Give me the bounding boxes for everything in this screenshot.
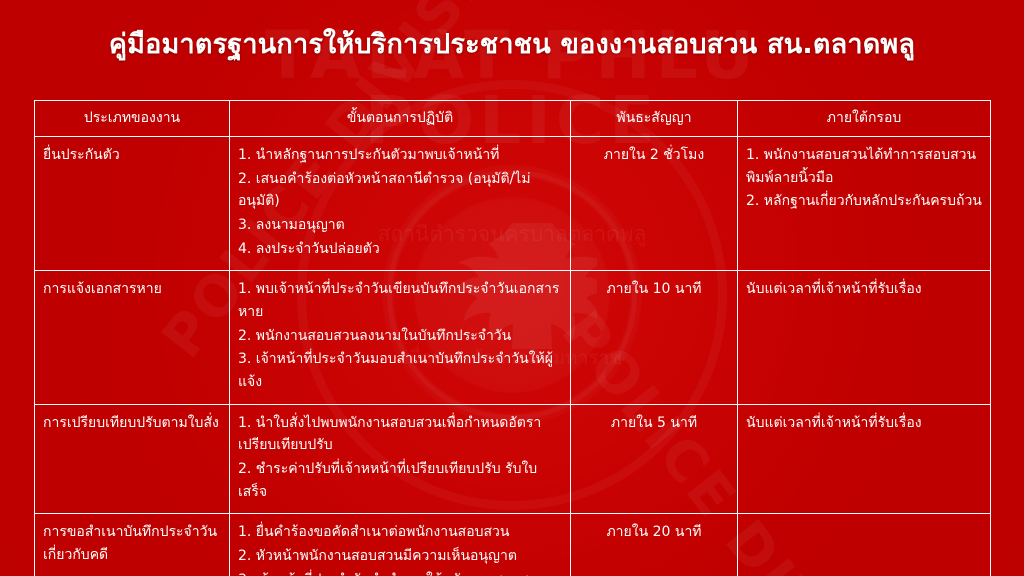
cell-service-type: การแจ้งเอกสารหาย [35,271,230,404]
procedure-step: 2. ชำระค่าปรับที่เจ้าหหน้าที่เปรียบเทียบ… [238,458,562,503]
procedure-step-list: 1. นำหลักฐานการประกันตัวมาพบเจ้าหน้าที่ … [238,144,562,260]
procedure-step: 2. หัวหน้าพนักงานสอบสวนมีความเห็นอนุญาต [238,545,562,568]
procedure-step: 1. นำหลักฐานการประกันตัวมาพบเจ้าหน้าที่ [238,144,562,167]
service-type-line: เกี่ยวกับคดี [43,544,221,567]
page-title: คู่มือมาตรฐานการให้บริการประชาชน ของงานส… [0,22,1024,65]
service-type-line: ยื่นประกันตัว [43,144,221,167]
cell-procedure-steps: 1. นำหลักฐานการประกันตัวมาพบเจ้าหน้าที่ … [230,137,571,271]
cell-procedure-steps: 1. นำใบสั่งไปพบพนักงานสอบสวนเพื่อกำหนดอั… [230,404,571,514]
scope-condition: นับแต่เวลาที่เจ้าหน้าที่รับเรื่อง [746,278,982,301]
column-header-type: ประเภทของงาน [35,101,230,137]
scope-condition-list: นับแต่เวลาที่เจ้าหน้าที่รับเรื่อง [746,278,982,301]
scope-condition-list: นับแต่เวลาที่เจ้าหน้าที่รับเรื่อง [746,412,982,435]
cell-scope-conditions: 1. พนักงานสอบสวนได้ทำการสอบสวน พิมพ์ลายน… [738,137,991,271]
procedure-step: 4. ลงประจำวันปล่อยตัว [238,238,562,261]
table-row: การแจ้งเอกสารหาย 1. พบเจ้าหน้าที่ประจำวั… [35,271,991,404]
procedure-step-list: 1. ยื่นคำร้องขอคัดสำเนาต่อพนักงานสอบสวน … [238,521,562,576]
service-type-line: การเปรียบเทียบปรับตามใบสั่ง [43,412,221,435]
cell-service-type: การขอสำเนาบันทึกประจำวัน เกี่ยวกับคดี [35,514,230,576]
cell-service-pledge: ภายใน 20 นาที [571,514,738,576]
procedure-step: 1. พบเจ้าหน้าที่ประจำวันเขียนบันทึกประจำ… [238,278,562,323]
procedure-step: 3. เจ้าหน้าที่ประจำวันนำสำเนาให้พนักงานส… [238,569,562,576]
procedure-step: 1. ยื่นคำร้องขอคัดสำเนาต่อพนักงานสอบสวน [238,521,562,544]
cell-service-pledge: ภายใน 2 ชั่วโมง [571,137,738,271]
procedure-step: 3. ลงนามอนุญาต [238,214,562,237]
service-type-line: การขอสำเนาบันทึกประจำวัน [43,521,221,544]
scope-condition: นับแต่เวลาที่เจ้าหน้าที่รับเรื่อง [746,412,982,435]
slide-content: คู่มือมาตรฐานการให้บริการประชาชน ของงานส… [0,0,1024,576]
cell-service-pledge: ภายใน 10 นาที [571,271,738,404]
table-row: การขอสำเนาบันทึกประจำวัน เกี่ยวกับคดี 1.… [35,514,991,576]
cell-procedure-steps: 1. ยื่นคำร้องขอคัดสำเนาต่อพนักงานสอบสวน … [230,514,571,576]
procedure-step-list: 1. นำใบสั่งไปพบพนักงานสอบสวนเพื่อกำหนดอั… [238,412,562,504]
cell-service-type: การเปรียบเทียบปรับตามใบสั่ง [35,404,230,514]
cell-scope-conditions [738,514,991,576]
procedure-step-list: 1. พบเจ้าหน้าที่ประจำวันเขียนบันทึกประจำ… [238,278,562,393]
cell-service-type: ยื่นประกันตัว [35,137,230,271]
table-row: ยื่นประกันตัว 1. นำหลักฐานการประกันตัวมา… [35,137,991,271]
table-row: การเปรียบเทียบปรับตามใบสั่ง 1. นำใบสั่งไ… [35,404,991,514]
procedure-step: 2. เสนอคำร้องต่อหัวหน้าสถานีตำรวจ (อนุมั… [238,168,562,213]
table-header-row: ประเภทของงาน ขั้นตอนการปฏิบัติ พันธะสัญญ… [35,101,991,137]
cell-scope-conditions: นับแต่เวลาที่เจ้าหน้าที่รับเรื่อง [738,404,991,514]
service-type-line: การแจ้งเอกสารหาย [43,278,221,301]
cell-service-pledge: ภายใน 5 นาที [571,404,738,514]
cell-procedure-steps: 1. พบเจ้าหน้าที่ประจำวันเขียนบันทึกประจำ… [230,271,571,404]
procedure-step: 1. นำใบสั่งไปพบพนักงานสอบสวนเพื่อกำหนดอั… [238,412,562,457]
table-header: ประเภทของงาน ขั้นตอนการปฏิบัติ พันธะสัญญ… [35,101,991,137]
scope-condition: 2. หลักฐานเกี่ยวกับหลักประกันครบถ้วน [746,190,982,213]
column-header-pledge: พันธะสัญญา [571,101,738,137]
cell-scope-conditions: นับแต่เวลาที่เจ้าหน้าที่รับเรื่อง [738,271,991,404]
column-header-scope: ภายใต้กรอบ [738,101,991,137]
table-body: ยื่นประกันตัว 1. นำหลักฐานการประกันตัวมา… [35,137,991,576]
procedure-step: 2. พนักงานสอบสวนลงนามในบันทึกประจำวัน [238,325,562,348]
service-standards-table: ประเภทของงาน ขั้นตอนการปฏิบัติ พันธะสัญญ… [34,100,991,576]
scope-condition-list: 1. พนักงานสอบสวนได้ทำการสอบสวน พิมพ์ลายน… [746,144,982,213]
procedure-step: 3. เจ้าหน้าที่ประจำวันมอบสำเนาบันทึกประจ… [238,348,562,393]
column-header-steps: ขั้นตอนการปฏิบัติ [230,101,571,137]
scope-condition: 1. พนักงานสอบสวนได้ทำการสอบสวน พิมพ์ลายน… [746,144,982,189]
